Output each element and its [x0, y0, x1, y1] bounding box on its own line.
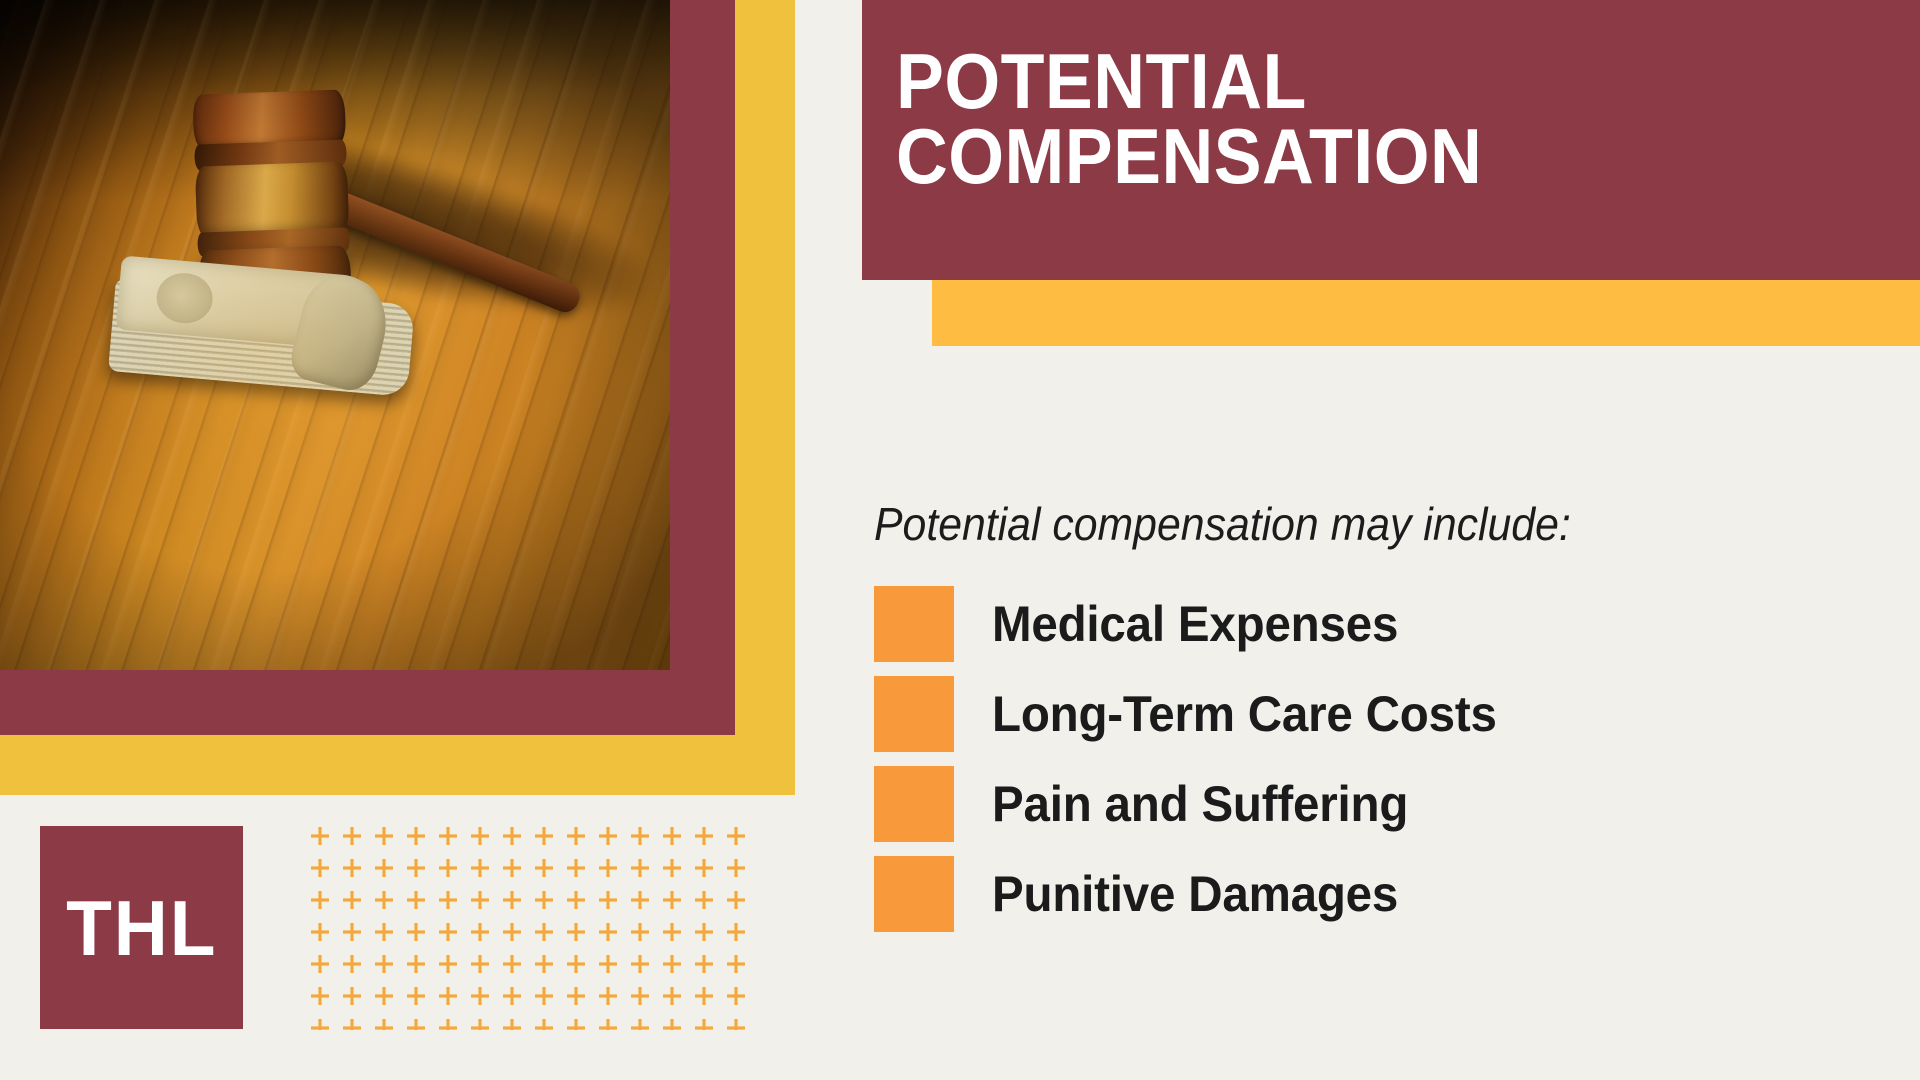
orange-square-bullet-icon: [874, 676, 954, 752]
list-item: Medical Expenses: [874, 578, 1824, 668]
thl-logo: THL: [40, 826, 243, 1029]
yellow-accent-bar: [932, 280, 1920, 346]
orange-square-bullet-icon: [874, 856, 954, 932]
list-item: Long-Term Care Costs: [874, 668, 1824, 758]
intro-text: Potential compensation may include:: [874, 499, 1571, 550]
page-title: POTENTIAL COMPENSATION: [896, 44, 1816, 194]
orange-square-bullet-icon: [874, 586, 954, 662]
list-item-label: Medical Expenses: [992, 592, 1398, 656]
plus-grid-pattern: [310, 826, 758, 1030]
orange-square-bullet-icon: [874, 766, 954, 842]
list-item-label: Pain and Suffering: [992, 772, 1408, 836]
infographic-canvas: POTENTIAL COMPENSATION Potential compens…: [0, 0, 1920, 1080]
compensation-list: Medical Expenses Long-Term Care Costs Pa…: [874, 578, 1824, 938]
list-item-label: Long-Term Care Costs: [992, 682, 1497, 746]
photo-vignette: [0, 0, 670, 670]
list-item: Punitive Damages: [874, 848, 1824, 938]
list-item: Pain and Suffering: [874, 758, 1824, 848]
gavel-and-money-photo: [0, 0, 670, 670]
list-item-label: Punitive Damages: [992, 862, 1398, 926]
thl-logo-text: THL: [66, 889, 217, 967]
title-block: POTENTIAL COMPENSATION: [862, 0, 1920, 280]
